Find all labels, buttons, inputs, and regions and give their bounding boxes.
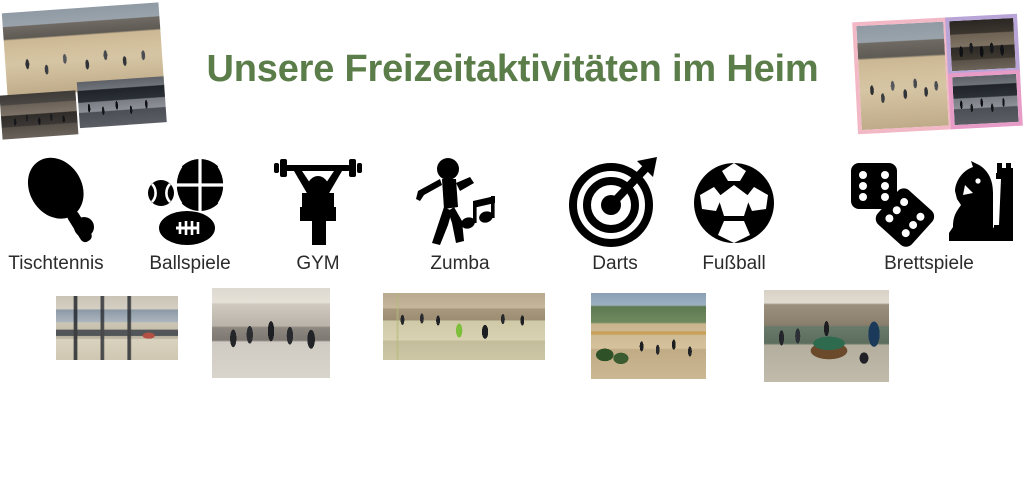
- activity-label-fussball: Fußball: [672, 253, 796, 275]
- dice-and-chess-pieces-icon: [845, 155, 1013, 247]
- bottom-photo-zumba: [383, 293, 545, 360]
- activity-label-darts: Darts: [553, 253, 677, 275]
- balls-icon: [142, 155, 238, 247]
- bottom-photo-brettspiele: [764, 290, 889, 382]
- activity-label-ballspiele: Ballspiele: [126, 253, 254, 275]
- activity-label-tischtennis: Tischtennis: [0, 253, 120, 275]
- table-tennis-paddle-icon: [8, 155, 104, 247]
- activity-zumba[interactable]: Zumba: [398, 155, 522, 275]
- activity-tischtennis[interactable]: Tischtennis: [0, 155, 120, 275]
- dancer-with-music-notes-icon: [414, 155, 506, 247]
- activity-label-zumba: Zumba: [398, 253, 522, 275]
- collage-photo-indoor-hall: [0, 90, 78, 139]
- activity-brettspiele[interactable]: Brettspiele: [833, 155, 1025, 275]
- activity-fussball[interactable]: Fußball: [672, 155, 796, 275]
- activity-label-brettspiele: Brettspiele: [833, 253, 1025, 275]
- bottom-photo-gym: [212, 288, 330, 378]
- activity-gym[interactable]: GYM: [256, 155, 380, 275]
- bottom-photo-darts: [591, 293, 706, 379]
- activity-label-gym: GYM: [256, 253, 380, 275]
- soccer-ball-icon: [688, 155, 780, 247]
- dartboard-with-dart-icon: [569, 155, 661, 247]
- weightlifter-icon: [272, 155, 364, 247]
- activity-ballspiele[interactable]: Ballspiele: [126, 155, 254, 275]
- activity-darts[interactable]: Darts: [553, 155, 677, 275]
- page-title: Unsere Freizeitaktivitäten im Heim: [0, 48, 1025, 91]
- bottom-photo-tischtennis: [56, 296, 178, 360]
